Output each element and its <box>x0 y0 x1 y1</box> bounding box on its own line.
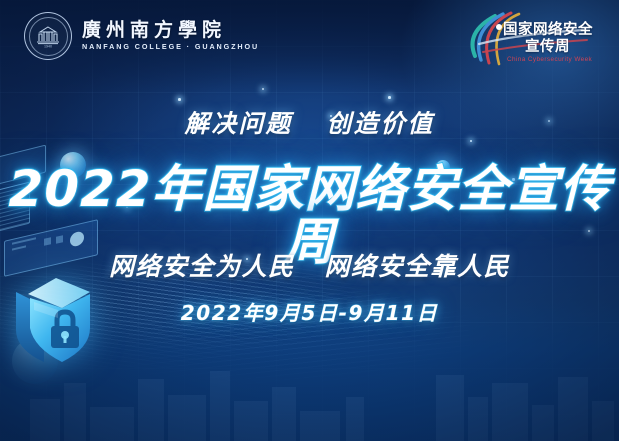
cyber-logo-line2: 宣传周 <box>525 40 570 55</box>
university-name-block: 廣州南方學院 NANFANG COLLEGE · GUANGZHOU <box>82 21 259 50</box>
slogan-mid-right: 网络安全靠人民 <box>325 252 511 281</box>
svg-text:1940: 1940 <box>44 45 52 49</box>
slogan-top-left: 解决问题 <box>185 109 293 138</box>
banner-header: 1940 廣州南方學院 NANFANG COLLEGE · GUANGZHOU <box>0 0 619 78</box>
cybersecurity-week-banner: 1940 廣州南方學院 NANFANG COLLEGE · GUANGZHOU <box>0 0 619 441</box>
cybersecurity-week-logo: 国家网络安全 宣传周 China Cybersecurity Week <box>459 8 605 70</box>
slogan-mid-left: 网络安全为人民 <box>109 252 295 281</box>
university-name-en: NANFANG COLLEGE · GUANGZHOU <box>82 43 259 50</box>
cyber-logo-line1: 国家网络安全 <box>503 23 593 38</box>
university-logo: 1940 廣州南方學院 NANFANG COLLEGE · GUANGZHOU <box>24 12 259 60</box>
university-crest-icon: 1940 <box>24 12 72 60</box>
university-name-cn: 廣州南方學院 <box>82 21 259 40</box>
slogan-top: 解决问题创造价值 <box>0 105 619 140</box>
event-dates: 2022年9月5日-9月11日 <box>0 297 619 326</box>
cyber-logo-line-en: China Cybersecurity Week <box>507 57 592 63</box>
slogan-mid: 网络安全为人民网络安全靠人民 <box>0 247 619 283</box>
slogan-top-right: 创造价值 <box>327 109 435 138</box>
